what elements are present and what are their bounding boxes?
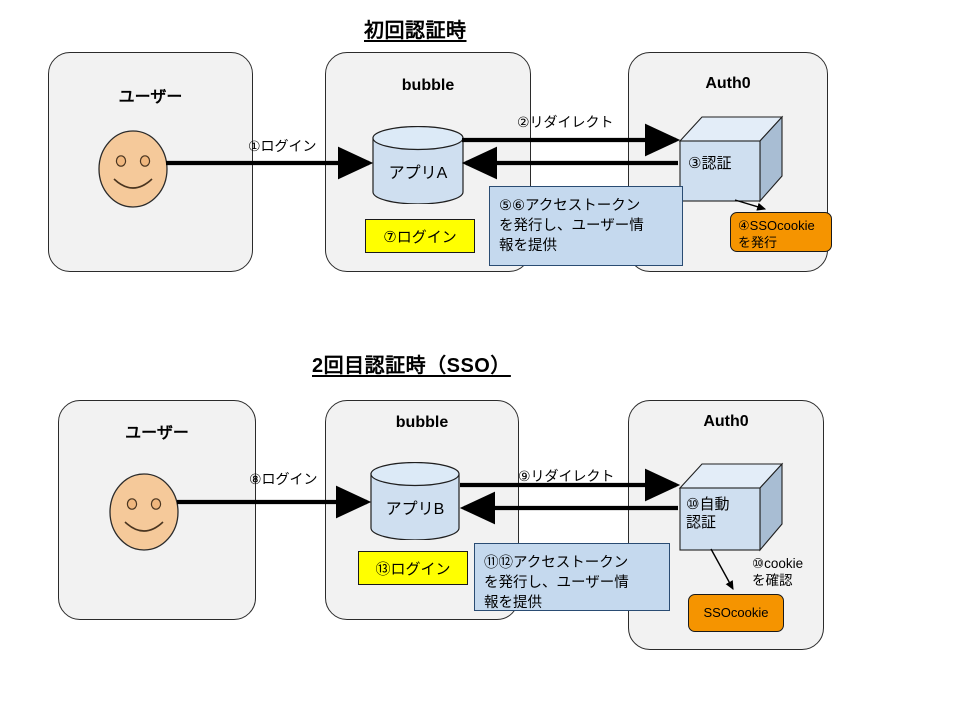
login-badge-second: ⑬ログイン [358,551,468,585]
zone-title-bubble-first: bubble [326,77,530,95]
token-callout-first: ⑤⑥アクセストークン を発行し、ユーザー情 報を提供 [489,186,683,266]
zone-title-bubble-second: bubble [326,414,518,432]
zone-title-auth0-first: Auth0 [629,75,827,93]
sso-cookie-store-second: SSOcookie [688,594,784,632]
arrow-label-login-second: ⑧ログイン [249,469,318,489]
user-avatar-icon-first [97,129,169,209]
auth-cube-second: ⑩自動 認証 [678,460,784,552]
zone-title-auth0-second: Auth0 [629,413,823,431]
zone-title-user-second: ユーザー [59,419,255,443]
arrow-label-redirect-first: ②リダイレクト [517,112,614,132]
zone-title-user-first: ユーザー [49,83,252,107]
app-cylinder-first: アプリA [372,126,464,204]
sso-cookie-issue-first: ④SSOcookie を発行 [730,212,832,252]
diagram-canvas: 初回認証時 ユーザー bubble Auth0 アプリA ③認証 ⑦ログイン [0,0,960,720]
arrow-label-redirect-second: ⑨リダイレクト [518,466,615,486]
arrow-label-login-first: ①ログイン [248,136,317,156]
user-avatar-icon-second [108,472,180,552]
login-badge-first: ⑦ログイン [365,219,475,253]
cookie-check-note-second: ⑩cookie を確認 [752,555,803,590]
section-title-second-auth: 2回目認証時（SSO） [312,349,511,378]
section-title-first-auth: 初回認証時 [364,14,467,43]
cylinder-shape-icon [372,126,464,204]
cylinder-shape-icon [370,462,460,540]
auth-cube-first: ③認証 [678,113,784,203]
cube-shape-icon [678,113,784,203]
app-cylinder-second: アプリB [370,462,460,540]
token-callout-second: ⑪⑫アクセストークン を発行し、ユーザー情 報を提供 [474,543,670,611]
cube-shape-icon [678,460,784,552]
